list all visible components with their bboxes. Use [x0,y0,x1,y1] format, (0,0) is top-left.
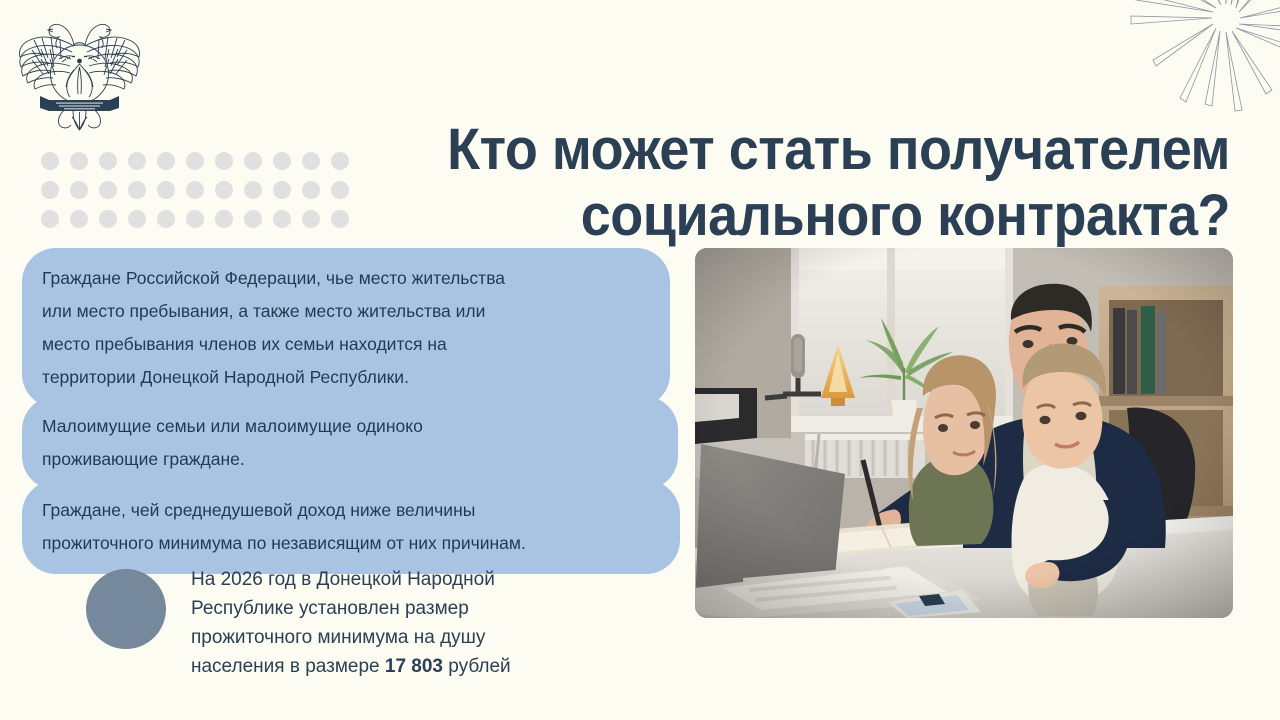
grid-dot [186,181,204,199]
grid-dot [99,210,117,228]
page-title: Кто может стать получателем социального … [272,117,1230,249]
grid-dot [70,152,88,170]
footnote: На 2026 год в Донецкой Народной Республи… [86,565,686,681]
grid-dot [244,152,262,170]
emblem-left-wing [19,37,74,89]
grid-dot [215,181,233,199]
footnote-bullet-circle [86,569,166,649]
grid-dot [128,152,146,170]
emblem-plant [59,56,100,97]
grid-dot [215,152,233,170]
grid-dot [41,181,59,199]
criteria-bubble-2: Малоимущие семьи или малоимущие одиноко … [22,396,678,490]
footnote-text: На 2026 год в Донецкой Народной Республи… [191,565,511,681]
grid-dot [244,210,262,228]
grid-dot [41,152,59,170]
emblem-heads [48,24,111,48]
grid-dot [244,181,262,199]
emblem-right-wing [85,37,140,89]
criteria-bubble-3: Граждане, чей среднедушевой доход ниже в… [22,480,680,574]
criteria-bubble-1: Граждане Российской Федерации, чье место… [22,248,670,408]
grid-dot [99,152,117,170]
grid-dot [186,152,204,170]
emblem [12,12,147,137]
grid-dot [128,210,146,228]
grid-dot [157,152,175,170]
grid-dot [186,210,204,228]
grid-dot [70,210,88,228]
grid-dot [70,181,88,199]
emblem-ribbon [40,96,119,111]
grid-dot [41,210,59,228]
grid-dot [157,210,175,228]
grid-dot [157,181,175,199]
grid-dot [128,181,146,199]
footnote-text-after: рублей [443,656,511,677]
grid-dot [215,210,233,228]
grid-dot [99,181,117,199]
emblem-circle [51,45,109,103]
footnote-amount: 17 803 [385,656,443,677]
family-at-laptop-photo [695,248,1233,618]
